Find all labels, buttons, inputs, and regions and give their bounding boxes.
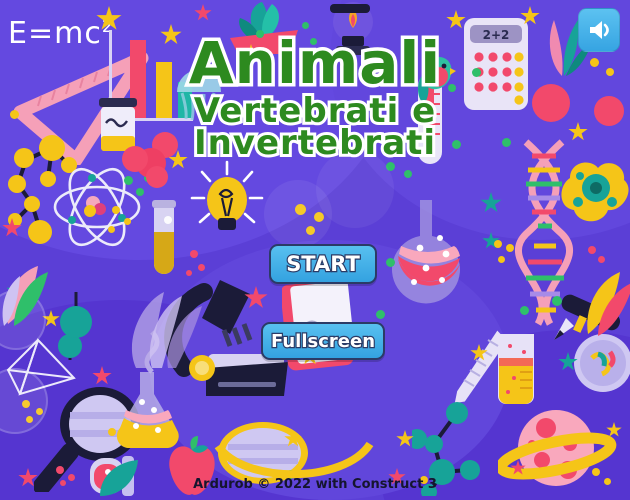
atom-icon [50, 160, 144, 254]
dot-decor [386, 258, 395, 267]
sound-toggle-button[interactable] [578, 8, 620, 52]
dot-decor [56, 466, 64, 474]
dot-decor [124, 218, 131, 225]
start-button[interactable]: START [269, 244, 377, 284]
leaf-fan-left-decor [0, 262, 66, 330]
dot-decor [186, 270, 192, 276]
dot-decor [376, 310, 385, 319]
dot-decor [498, 256, 505, 263]
start-button-label: START [286, 252, 360, 276]
dot-decor [520, 306, 529, 315]
lightbulb-icon [190, 160, 264, 240]
dot-decor [136, 188, 144, 196]
circle-decor [146, 166, 168, 188]
dot-decor [190, 250, 198, 258]
petri-dish-right-icon [572, 332, 630, 394]
dot-decor [552, 296, 562, 306]
dot-decor [588, 246, 596, 254]
fullscreen-button[interactable]: Fullscreen [261, 322, 385, 360]
cell-amoeba-icon [556, 158, 630, 228]
dot-decor [598, 256, 605, 263]
dot-decor [494, 240, 502, 248]
dot-decor [404, 170, 412, 178]
ruler-strip-icon [452, 328, 508, 410]
game-title-screen: E=mc2 2+2 [0, 0, 630, 500]
dot-decor [108, 226, 115, 233]
dot-decor [302, 22, 309, 29]
dot-decor [592, 468, 600, 476]
dot-decor [124, 176, 133, 185]
feather-swirl-decor [118, 286, 208, 372]
dot-decor [108, 428, 116, 436]
dot-decor [122, 420, 129, 427]
title-block: Animali Vertebrati e Invertebrati [0, 34, 630, 160]
speaker-icon [586, 18, 612, 42]
round-flask-pink-icon [384, 196, 478, 304]
page-title: Animali [0, 34, 630, 92]
dot-decor [198, 264, 205, 271]
footer-credit: Ardurob © 2022 with Construct 3 [0, 477, 630, 492]
fullscreen-button-label: Fullscreen [271, 331, 375, 352]
leaf-fan-right-decor [576, 268, 630, 338]
dot-decor [506, 244, 514, 252]
dot-decor [112, 206, 120, 214]
lamp-fixture-icon [330, 4, 370, 13]
subtitle-line-2: Invertebrati [0, 126, 630, 160]
